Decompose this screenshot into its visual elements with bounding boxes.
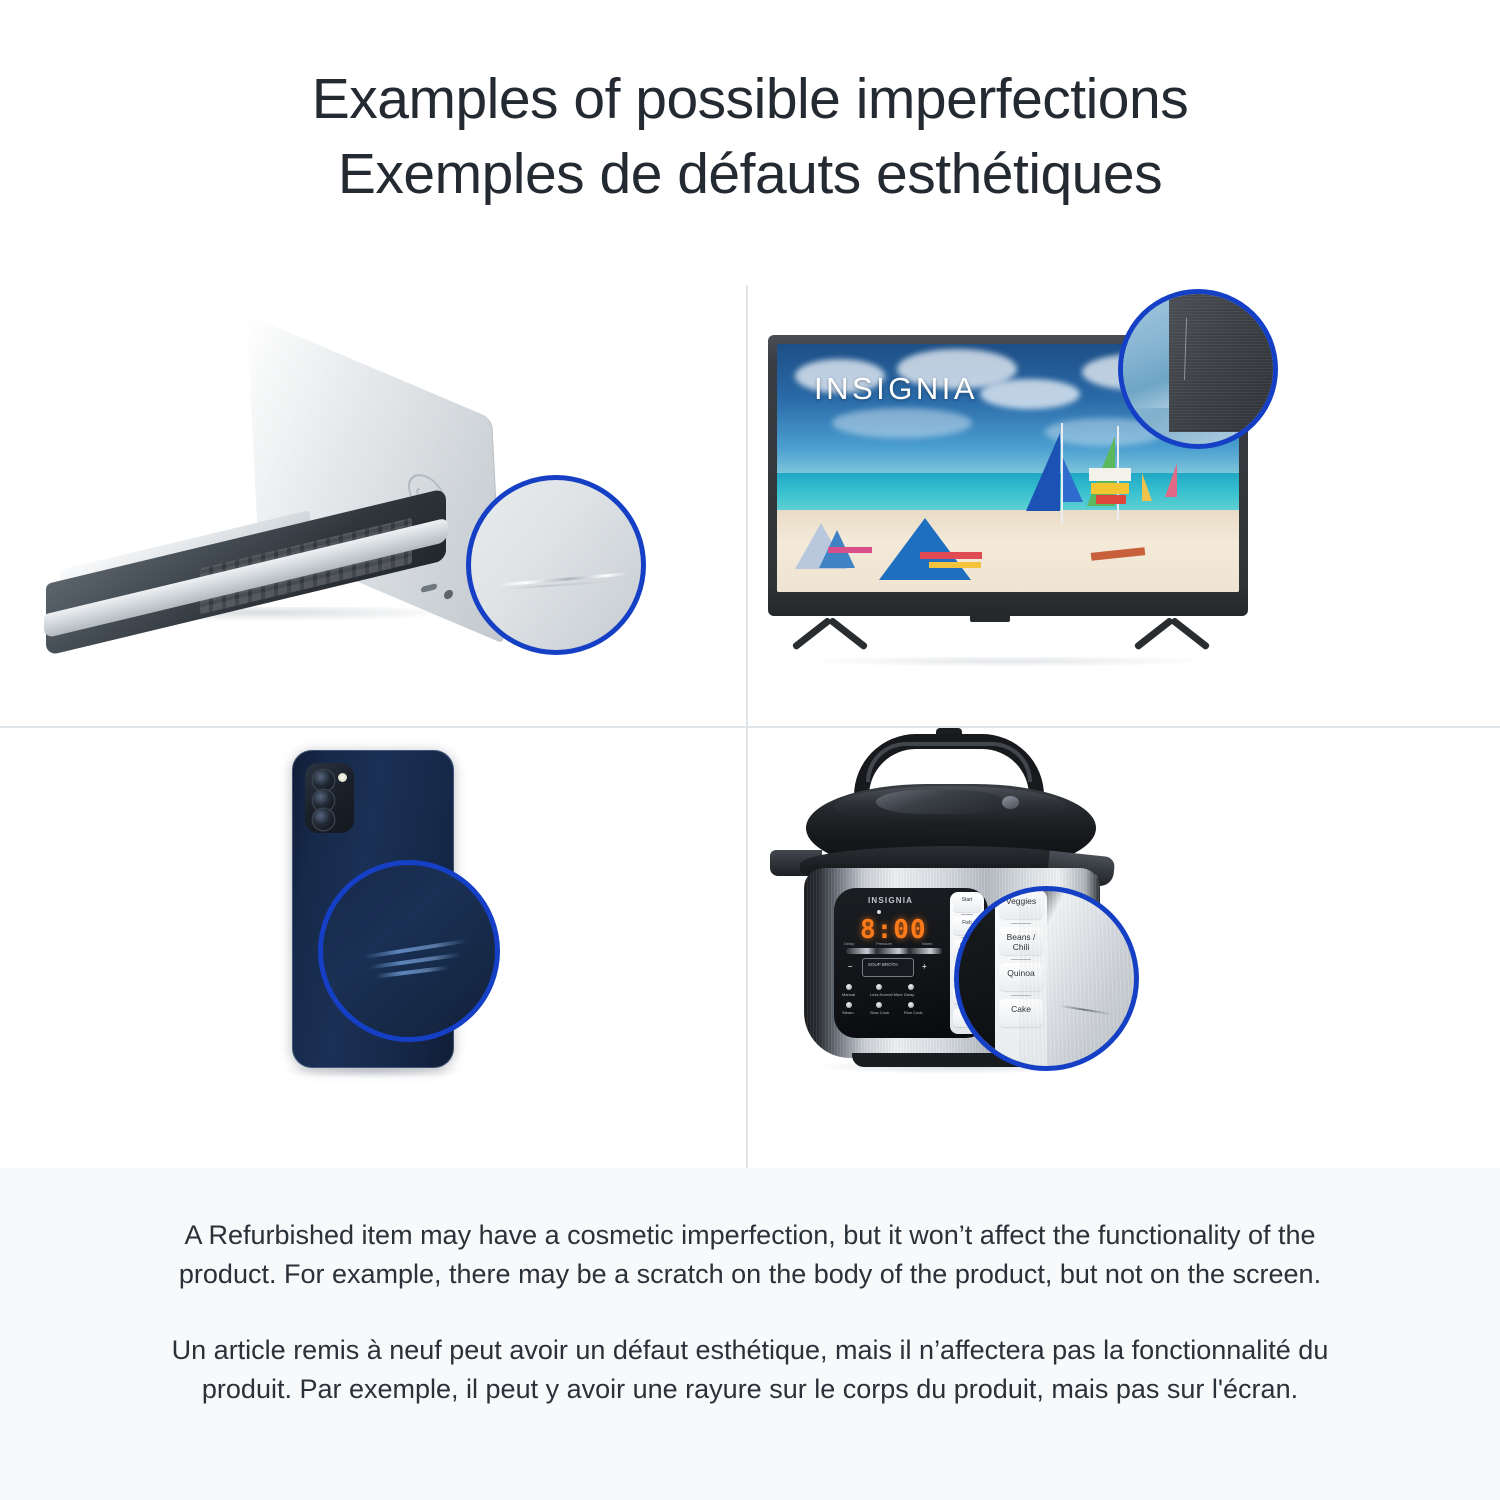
magnifier-tv-corner-scuff (1118, 289, 1278, 449)
panel-laptop (0, 285, 746, 726)
pressure-cooker-icon: INSIGNIA 8:00 Delay Pressure Warm – + SO… (748, 728, 1494, 1169)
cooker-button-label: Rice Cook (904, 1010, 922, 1015)
cooker-status-indicator (877, 910, 881, 914)
disclaimer-english: A Refurbished item may have a cosmetic i… (170, 1216, 1330, 1295)
cooker-button-dot[interactable] (876, 1002, 882, 1008)
panel-smartphone (0, 728, 746, 1169)
tv-brand-text: INSIGNIA (814, 371, 978, 407)
cooker-selected-program-box: SOUP BROTH (862, 958, 914, 977)
camera-lens-icon (313, 770, 334, 791)
cooker-minus-label: – (848, 962, 852, 971)
cooker-button-dot[interactable] (846, 1002, 852, 1008)
cooker-slider-label-pressure: Pressure (876, 941, 892, 946)
cooker-button-label: Steam (842, 1010, 854, 1015)
camera-lens-icon (313, 790, 334, 811)
disclaimer-french: Un article remis à neuf peut avoir un dé… (170, 1331, 1330, 1410)
magnifier-laptop-scratch (466, 475, 646, 655)
disclaimer-section: A Refurbished item may have a cosmetic i… (0, 1168, 1500, 1500)
sailboat-sail-blue (1026, 433, 1060, 511)
cloud-shape (832, 408, 972, 438)
beach-kite-stripe-red (920, 552, 982, 559)
page-title-french: Exemples de défauts esthétiques (0, 137, 1500, 212)
sailboat-stripe-white (1089, 468, 1131, 481)
sailboat-jib-blue (1063, 458, 1083, 502)
cooker-mag-brushed-texture (1019, 891, 1139, 1071)
beach-kite-stripe-pink (828, 547, 872, 553)
sailboat-stripe-red (1096, 495, 1126, 504)
camera-flash-icon (338, 773, 347, 782)
cooker-button-label: Slow Cook (870, 1010, 889, 1015)
cooker-brand-label: INSIGNIA (868, 896, 913, 905)
cooker-slider-label-delay: Delay (844, 941, 854, 946)
tv-icon: INSIGNIA (748, 285, 1494, 726)
cooker-button-dot[interactable] (908, 984, 914, 990)
sailboat-stripe-yellow (1091, 483, 1129, 494)
cooker-plus-label: + (922, 962, 927, 971)
page-header: Examples of possible imperfections Exemp… (0, 0, 1500, 212)
magnifier-phone-scratches (318, 860, 500, 1042)
cooker-button-dot[interactable] (846, 984, 852, 990)
panel-pressure-cooker: INSIGNIA 8:00 Delay Pressure Warm – + SO… (748, 728, 1494, 1169)
page-title-english: Examples of possible imperfections (0, 62, 1500, 137)
cooker-handle-highlight (866, 742, 1032, 782)
cooker-slider-label-warm: Warm (922, 941, 933, 946)
cooker-button-label: Delay (904, 992, 914, 997)
cooker-button-dot[interactable] (908, 1002, 914, 1008)
cloud-shape (980, 379, 1080, 409)
tv-stand (768, 616, 1248, 658)
panel-television: INSIGNIA (748, 285, 1494, 726)
phone-camera-module (305, 763, 354, 833)
magnifier-cooker-scratch: Delay Slow Cook Veggies Beans / Chili Qu… (954, 886, 1139, 1071)
cooker-button-label: Manual (842, 992, 855, 997)
sailboat-sail-pink (1165, 463, 1177, 497)
beach-kite-stripe-yellow (929, 562, 981, 568)
product-example-grid: INSIGNIA (0, 285, 1500, 1168)
cooker-lcd-display: 8:00 (860, 915, 927, 945)
laptop-icon (0, 285, 746, 726)
beach-kite-large-blue (879, 518, 971, 580)
cooker-button-label: Less Normal More (870, 992, 903, 997)
sailboat-sail-yellow (1142, 473, 1152, 501)
cooker-lid-vent-panel (876, 790, 1004, 814)
phone-scratch-mark (375, 966, 449, 979)
cooker-lid-release-button[interactable] (1002, 796, 1019, 809)
camera-lens-icon (313, 809, 334, 830)
cooker-button-dot[interactable] (876, 984, 882, 990)
cooker-mode-slider[interactable] (846, 948, 942, 954)
cooker-selected-program-text: SOUP BROTH (868, 962, 898, 967)
phone-icon (0, 728, 746, 1169)
tv-shadow (808, 657, 1208, 667)
